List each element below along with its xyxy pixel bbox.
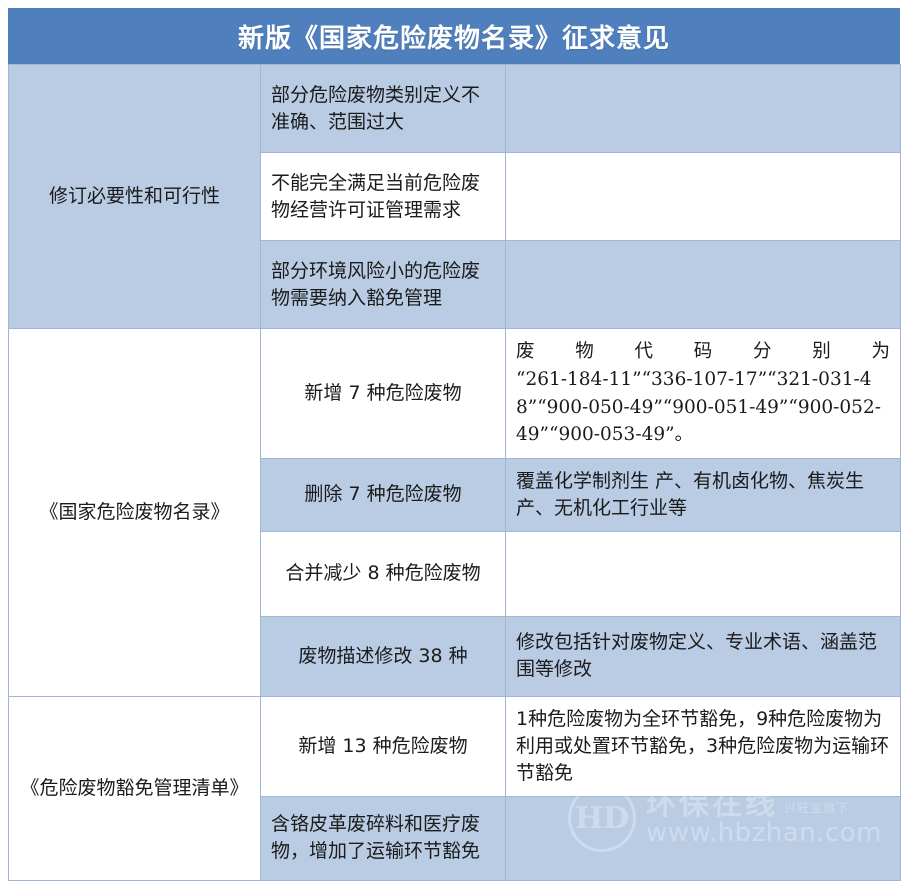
page-title: 新版《国家危险废物名录》征求意见 (238, 18, 670, 55)
table-row: 《国家危险废物名录》 新增 7 种危险废物 废物代码分别为“261-184-11… (9, 329, 901, 459)
item-cell: 新增 13 种危险废物 (261, 696, 506, 796)
detail-cell (506, 241, 901, 329)
detail-cell: 修改包括针对废物定义、专业术语、涵盖范围等修改 (506, 616, 901, 696)
detail-cell (506, 65, 901, 153)
category-cell-national-catalogue: 《国家危险废物名录》 (9, 329, 261, 697)
item-cell: 删除 7 种危险废物 (261, 459, 506, 532)
category-cell-exemption-list: 《危险废物豁免管理清单》 (9, 696, 261, 880)
detail-cell (506, 153, 901, 241)
table-row: 《危险废物豁免管理清单》 新增 13 种危险废物 1种危险废物为全环节豁免，9种… (9, 696, 901, 796)
page-title-bar: 新版《国家危险废物名录》征求意见 (8, 8, 900, 64)
item-cell: 新增 7 种危险废物 (261, 329, 506, 459)
detail-cell: 覆盖化学制剂生 产、有机卤化物、焦炭生产、无机化工行业等 (506, 459, 901, 532)
item-cell: 合并减少 8 种危险废物 (261, 531, 506, 616)
detail-cell (506, 796, 901, 880)
infographic-table-page: 新版《国家危险废物名录》征求意见 修订必要性和可行性 部分危险废物类别定义不准确… (0, 0, 908, 874)
detail-cell: 1种危险废物为全环节豁免，9种危险废物为利用或处置环节豁免，3种危险废物为运输环… (506, 696, 901, 796)
comparison-table: 修订必要性和可行性 部分危险废物类别定义不准确、范围过大 不能完全满足当前危险废… (8, 64, 901, 881)
item-cell: 部分危险废物类别定义不准确、范围过大 (261, 65, 506, 153)
item-cell: 含铬皮革废碎料和医疗废物，增加了运输环节豁免 (261, 796, 506, 880)
waste-codes-list: “261-184-11”“336-107-17”“321-031-48”“900… (516, 369, 881, 446)
detail-cell-waste-codes: 废物代码分别为“261-184-11”“336-107-17”“321-031-… (506, 329, 901, 459)
item-cell: 部分环境风险小的危险废物需要纳入豁免管理 (261, 241, 506, 329)
waste-codes-lead: 废物代码分别为 (516, 338, 890, 366)
category-cell-revision-necessity: 修订必要性和可行性 (9, 65, 261, 329)
item-cell: 废物描述修改 38 种 (261, 616, 506, 696)
item-cell: 不能完全满足当前危险废物经营许可证管理需求 (261, 153, 506, 241)
table-row: 修订必要性和可行性 部分危险废物类别定义不准确、范围过大 (9, 65, 901, 153)
detail-cell (506, 531, 901, 616)
